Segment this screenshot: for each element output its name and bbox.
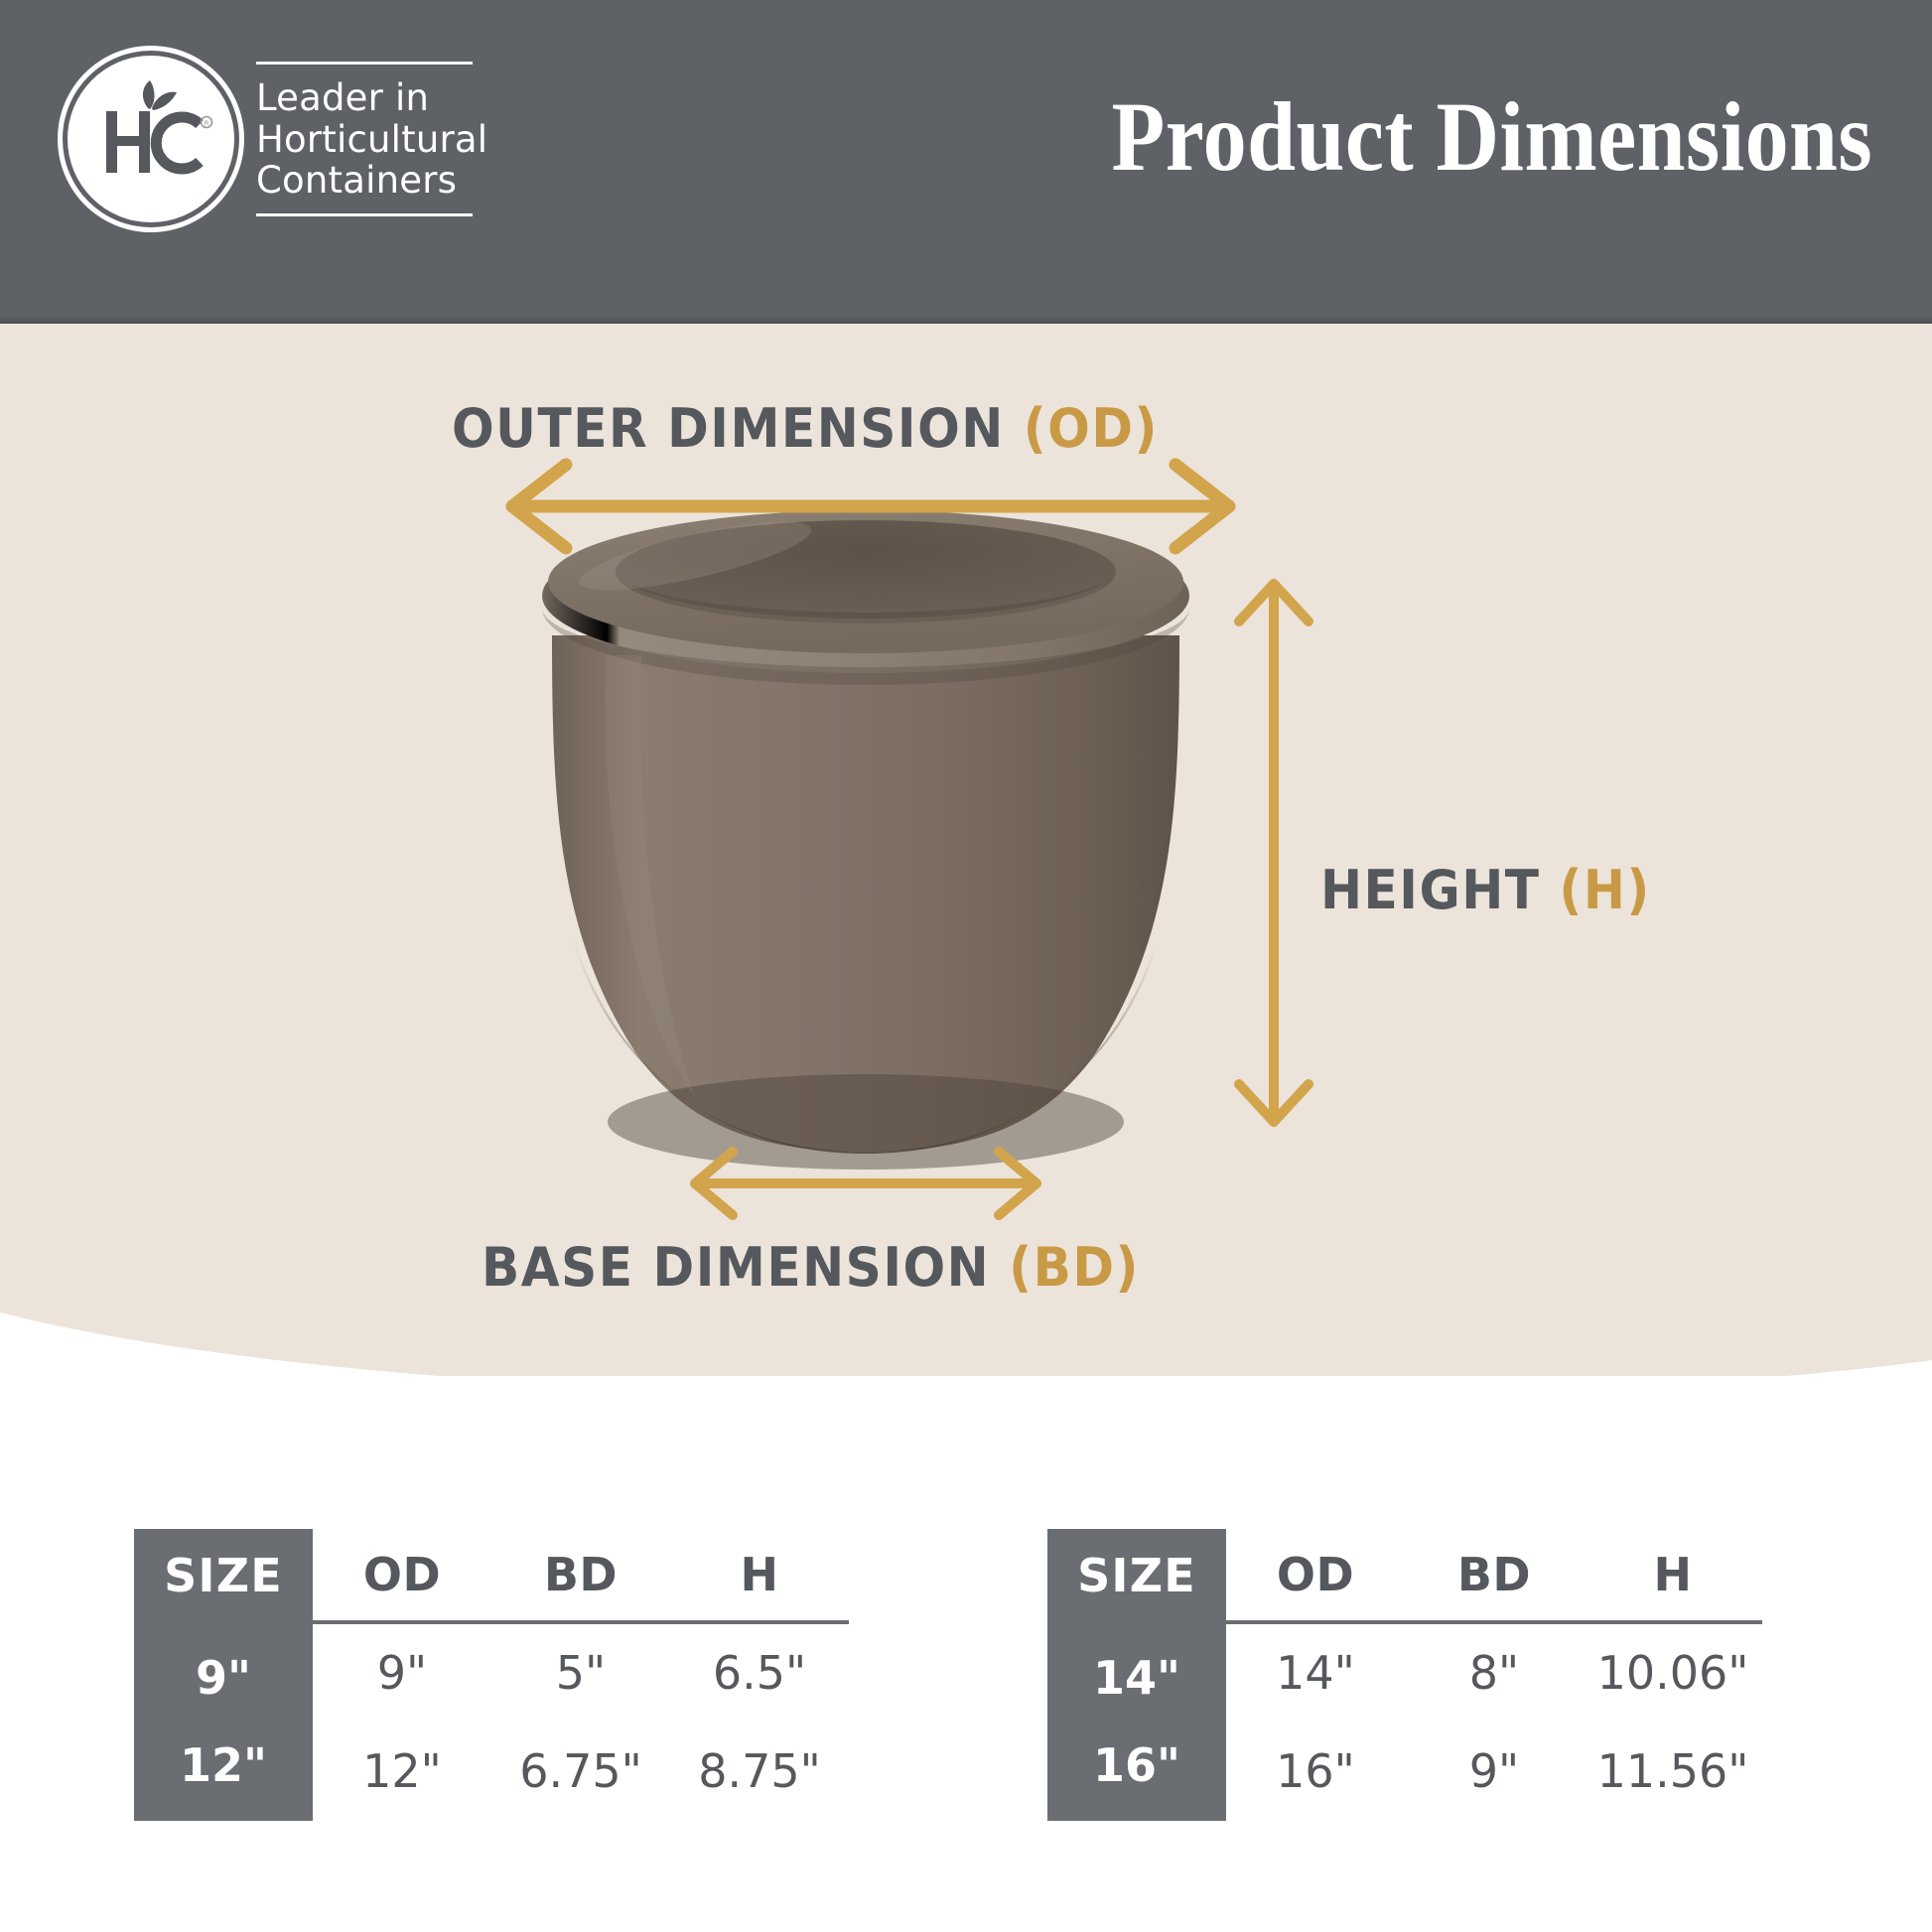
cell-h: 10.06" [1584,1622,1762,1722]
cell-od: 12" [313,1722,491,1821]
table-row: 14" 14" 8" 10.06" [1047,1622,1762,1722]
column-header-h: H [670,1529,849,1622]
table-row: 16" 16" 9" 11.56" [1047,1722,1762,1821]
cell-h: 8.75" [670,1722,849,1821]
table-header-row: SIZE OD BD H [134,1529,849,1622]
cell-size: 12" [134,1722,313,1821]
hc-circle-logo-icon: R [68,56,234,222]
cell-size: 16" [1047,1722,1226,1821]
base-dimension-code: (BD) [1009,1236,1140,1299]
cell-size: 9" [134,1622,313,1722]
table-header-row: SIZE OD BD H [1047,1529,1762,1622]
table-row: 12" 12" 6.75" 8.75" [134,1722,849,1821]
diagram-background-panel [0,324,1932,1376]
height-code: (H) [1559,859,1650,921]
table-row: 9" 9" 5" 6.5" [134,1622,849,1722]
height-text: HEIGHT [1320,859,1559,921]
cell-bd: 9" [1405,1722,1584,1821]
cell-bd: 6.75" [491,1722,670,1821]
outer-dimension-label: OUTER DIMENSION (OD) [452,397,1159,460]
cell-h: 11.56" [1584,1722,1762,1821]
column-header-h: H [1584,1529,1762,1622]
column-header-size: SIZE [134,1529,313,1622]
page-title: Product Dimensions [1111,87,1872,187]
size-table-large: SIZE OD BD H 14" 14" 8" 10.06" 16" 16" 9… [1047,1529,1762,1821]
size-table-small: SIZE OD BD H 9" 9" 5" 6.5" 12" 12" 6.75"… [134,1529,849,1821]
column-header-bd: BD [1405,1529,1584,1622]
brand-logo: R Leader in Horticultural Containers [68,56,473,222]
outer-dimension-code: (OD) [1024,397,1159,460]
size-tables: SIZE OD BD H 9" 9" 5" 6.5" 12" 12" 6.75"… [0,1529,1932,1821]
tagline-line-2: Horticultural [256,119,473,161]
base-dimension-label: BASE DIMENSION (BD) [482,1236,1140,1299]
tagline-line-3: Containers [256,160,473,202]
brand-tagline: Leader in Horticultural Containers [256,62,473,216]
cell-bd: 8" [1405,1622,1584,1722]
height-label: HEIGHT (H) [1320,859,1651,921]
cell-bd: 5" [491,1622,670,1722]
tagline-line-1: Leader in [256,77,473,119]
cell-od: 9" [313,1622,491,1722]
cell-od: 16" [1226,1722,1405,1821]
column-header-od: OD [313,1529,491,1622]
header-bar: R Leader in Horticultural Containers Pro… [0,0,1932,324]
column-header-size: SIZE [1047,1529,1226,1622]
svg-text:R: R [205,120,209,128]
base-dimension-text: BASE DIMENSION [482,1236,1009,1299]
column-header-od: OD [1226,1529,1405,1622]
column-header-bd: BD [491,1529,670,1622]
cell-od: 14" [1226,1622,1405,1722]
cell-h: 6.5" [670,1622,849,1722]
outer-dimension-text: OUTER DIMENSION [452,397,1024,460]
cell-size: 14" [1047,1622,1226,1722]
